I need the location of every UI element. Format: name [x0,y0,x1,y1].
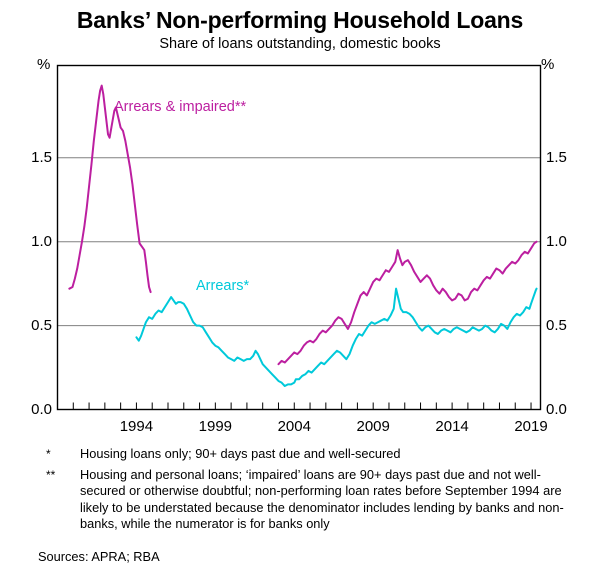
y-axis-tick-label-left: 1.0 [0,234,52,249]
series-line-arrears [136,289,536,386]
y-axis-tick-label-right: 0.0 [546,402,600,417]
x-axis-tick-label: 1999 [185,418,245,435]
y-axis-tick-label-right: 1.0 [546,234,600,249]
footnotes: *Housing loans only; 90+ days past due a… [40,446,585,537]
footnote-row: **Housing and personal loans; ‘impaired’… [40,467,585,533]
y-axis-tick-label-left: 0.5 [0,318,52,333]
x-axis-tick-label: 2004 [264,418,324,435]
x-axis-tick-label: 2019 [501,418,561,435]
series-line-arrears-impaired [278,242,536,364]
y-axis-tick-label-left: 1.5 [0,150,52,165]
footnote-marker: ** [40,467,80,483]
series-label-arrears: Arrears* [196,278,249,294]
series-label-arrears-impaired: Arrears & impaired** [114,99,246,115]
footnote-row: *Housing loans only; 90+ days past due a… [40,446,585,463]
plot-frame [58,66,541,410]
footnote-text: Housing and personal loans; ‘impaired’ l… [80,467,585,533]
x-axis-tick-label: 2014 [422,418,482,435]
footnote-text: Housing loans only; 90+ days past due an… [80,446,585,463]
y-axis-tick-label-right: 1.5 [546,150,600,165]
footnote-marker: * [40,446,80,462]
x-axis-tick-label: 2009 [343,418,403,435]
y-axis-tick-label-left: 0.0 [0,402,52,417]
y-axis-tick-label-right: 0.5 [546,318,600,333]
chart-figure: Banks’ Non-performing Household Loans Sh… [0,0,600,577]
x-axis-tick-label: 1994 [106,418,166,435]
series-line-arrears-impaired [69,86,150,292]
sources-line: Sources: APRA; RBA [38,549,160,564]
